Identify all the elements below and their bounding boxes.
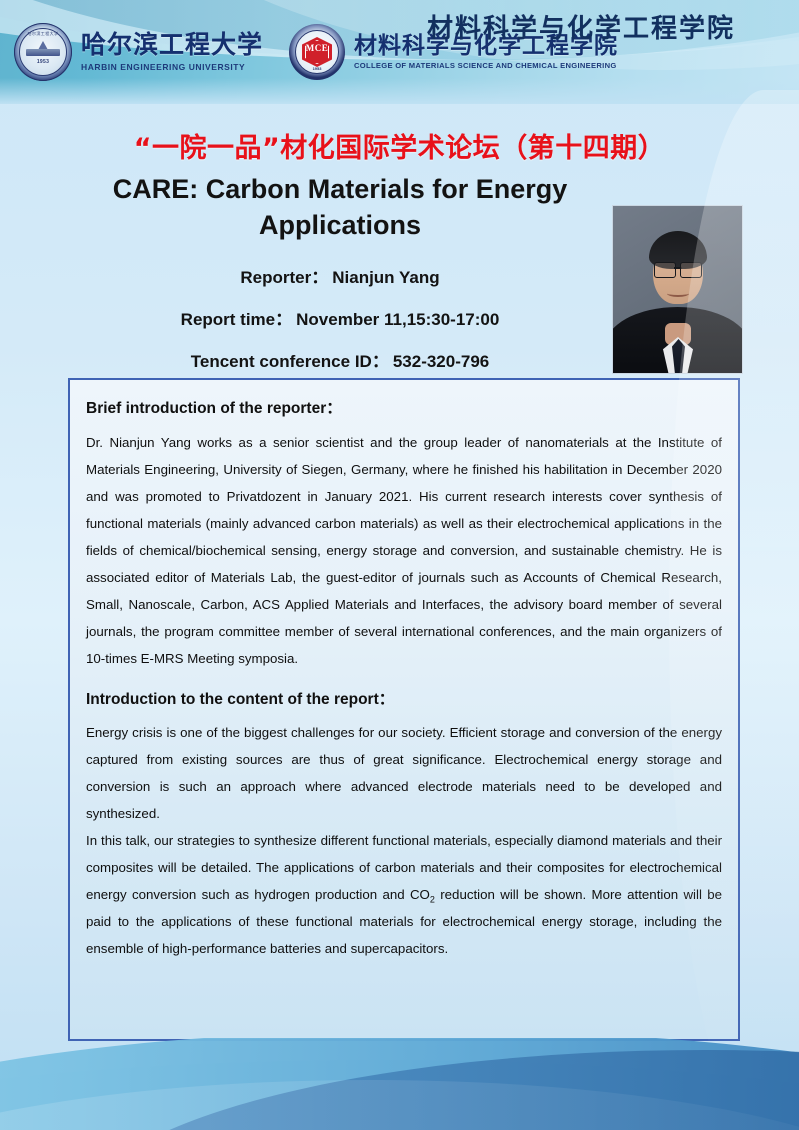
seal-year: 1953 (14, 59, 72, 65)
seal-arc-top-text: 哈尔滨工程大学 (14, 31, 72, 37)
english-talk-title: CARE: Carbon Materials for Energy Applic… (60, 172, 620, 243)
reporter-value: Nianjun Yang (332, 268, 439, 287)
report-time-value: November 11,15:30-17:00 (296, 310, 499, 329)
poster-root: 哈尔滨工程大学 1953 哈尔滨工程大学 HARBIN ENGINEERING … (0, 0, 799, 1130)
logo-right-english-name: COLLEGE OF MATERIALS SCIENCE AND CHEMICA… (354, 61, 618, 70)
portrait-lens-left (654, 262, 676, 278)
content-panel: Brief introduction of the reporter： Dr. … (68, 378, 740, 1041)
logo-left-chinese-name: 哈尔滨工程大学 (81, 32, 263, 58)
report-time-label: Report time： (181, 310, 292, 329)
college-seal-year: 1953 (289, 66, 345, 71)
speaker-portrait-photo (612, 205, 743, 374)
reporter-intro-paragraph: Dr. Nianjun Yang works as a senior scien… (86, 430, 722, 673)
section-heading-report-content: Introduction to the content of the repor… (86, 687, 722, 709)
conference-id-line: Tencent conference ID：532-320-796 (60, 347, 620, 372)
report-content-paragraph-2: In this talk, our strategies to synthesi… (86, 828, 722, 963)
logo-left-text: 哈尔滨工程大学 HARBIN ENGINEERING UNIVERSITY (81, 32, 263, 71)
seal-bar-shape (26, 49, 60, 56)
footer-banner (0, 1038, 799, 1130)
portrait-smile (667, 290, 689, 297)
report-content-paragraph-1: Energy crisis is one of the biggest chal… (86, 720, 722, 828)
footer-college-name: 材料科学与化学工程学院 (427, 8, 735, 45)
portrait-glasses-icon (653, 262, 703, 277)
logo-left-english-name: HARBIN ENGINEERING UNIVERSITY (81, 62, 263, 72)
conference-id-value: 532-320-796 (393, 352, 489, 371)
conference-id-label: Tencent conference ID： (191, 352, 389, 371)
chinese-forum-title: “一院一品”材化国际学术论坛（第十四期） (0, 126, 799, 165)
portrait-lens-right (680, 262, 702, 278)
logo-harbin-engineering-university: 哈尔滨工程大学 1953 哈尔滨工程大学 HARBIN ENGINEERING … (14, 23, 263, 81)
college-seal-icon: MCE 1953 (289, 24, 345, 80)
section-heading-reporter-intro: Brief introduction of the reporter： (86, 396, 722, 418)
university-seal-icon: 哈尔滨工程大学 1953 (14, 23, 72, 81)
reporter-label: Reporter： (240, 268, 328, 287)
college-seal-monogram: MCE (289, 43, 345, 53)
report-time-line: Report time：November 11,15:30-17:00 (60, 305, 620, 330)
reporter-line: Reporter：Nianjun Yang (60, 263, 620, 288)
